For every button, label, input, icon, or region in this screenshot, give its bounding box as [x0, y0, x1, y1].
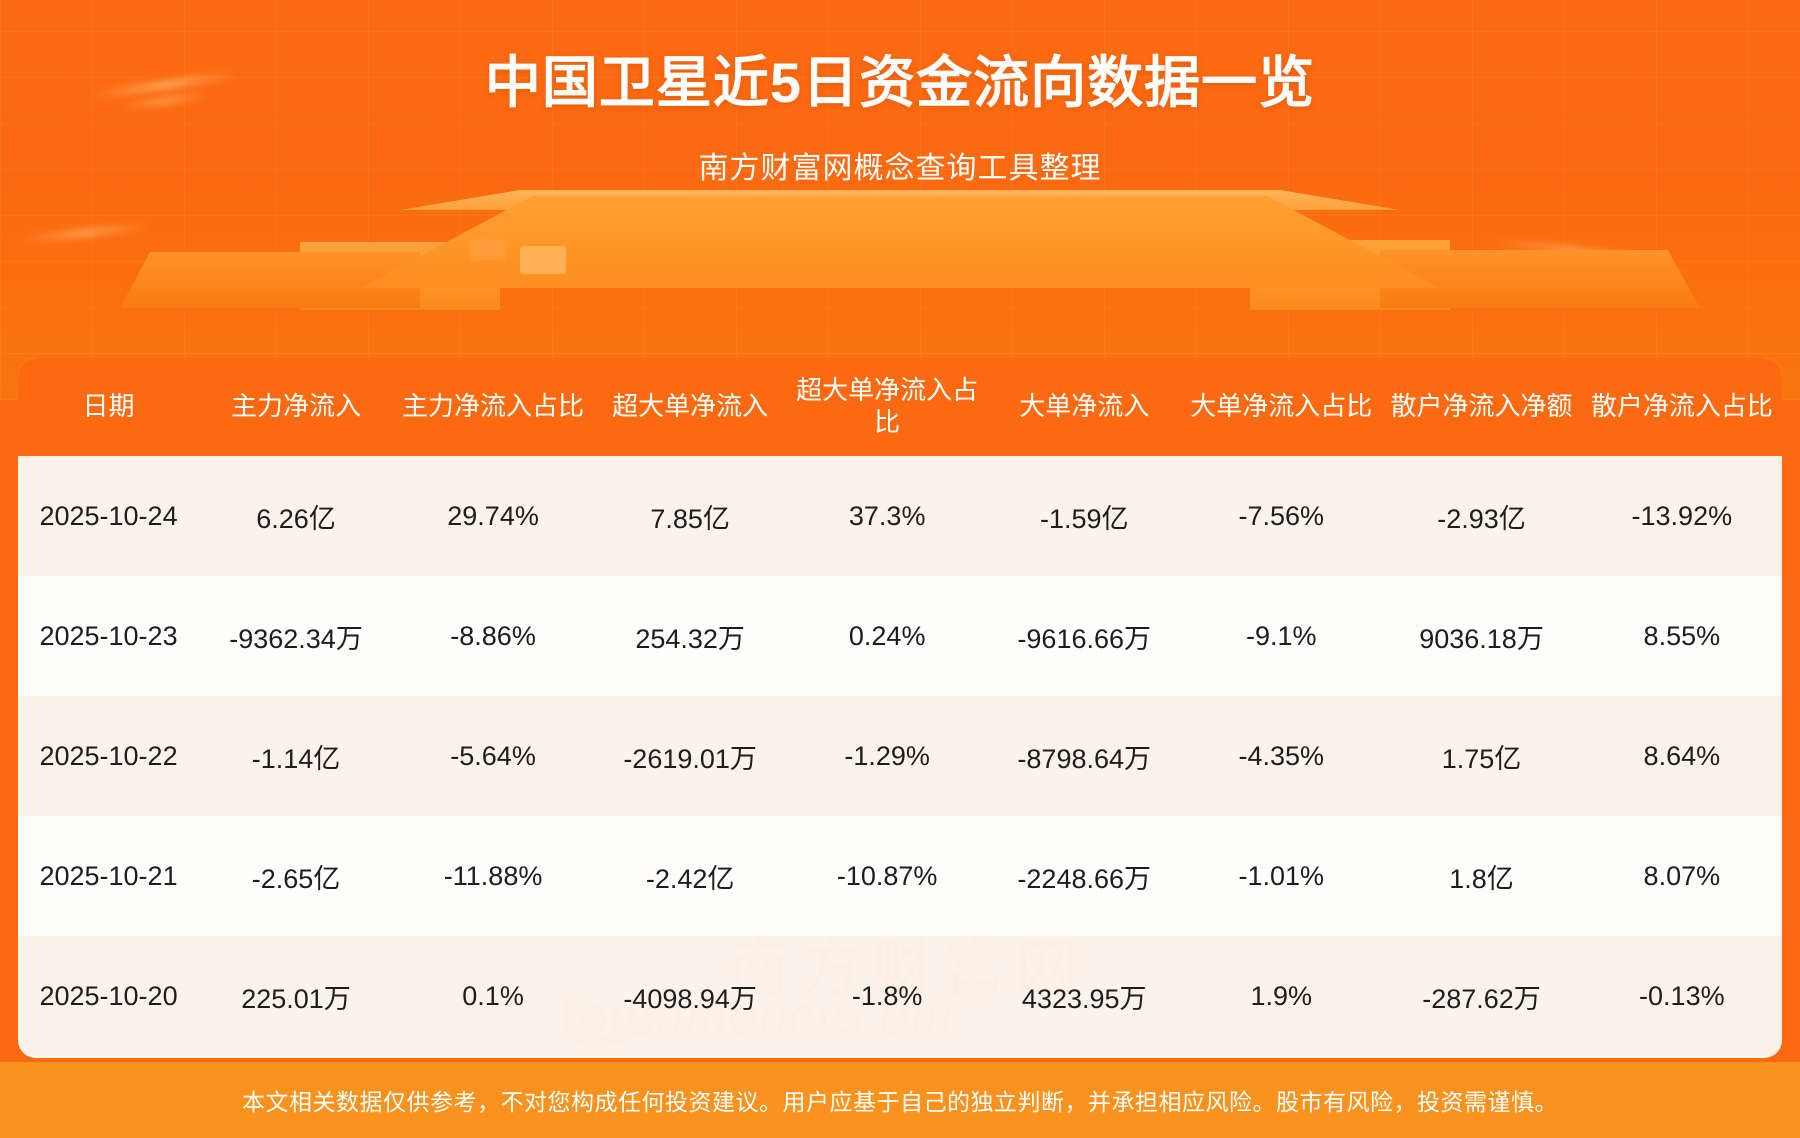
cell-value: -8.86% — [393, 576, 593, 696]
podium-block-decoration — [520, 246, 566, 274]
cell-value: -2.65亿 — [199, 816, 393, 936]
cell-value: -7.56% — [1181, 456, 1381, 576]
podium-center-decoration — [360, 196, 1440, 288]
cell-value: 0.24% — [787, 576, 987, 696]
cell-date: 2025-10-22 — [18, 696, 199, 816]
table-row: 2025-10-22 -1.14亿 -5.64% -2619.01万 -1.29… — [18, 696, 1782, 816]
cell-date: 2025-10-20 — [18, 936, 199, 1056]
cell-value: 225.01万 — [199, 936, 393, 1056]
table-row: 2025-10-24 6.26亿 29.74% 7.85亿 37.3% -1.5… — [18, 456, 1782, 576]
cell-value: -10.87% — [787, 816, 987, 936]
cell-value: -2.42亿 — [593, 816, 787, 936]
cell-value: -9616.66万 — [987, 576, 1181, 696]
cell-date: 2025-10-23 — [18, 576, 199, 696]
cell-date: 2025-10-24 — [18, 456, 199, 576]
cell-value: 8.07% — [1582, 816, 1782, 936]
cell-value: -1.14亿 — [199, 696, 393, 816]
podium-block-decoration — [469, 237, 506, 261]
cell-value: 0.1% — [393, 936, 593, 1056]
cell-value: -1.8% — [787, 936, 987, 1056]
cell-value: 1.75亿 — [1381, 696, 1581, 816]
disclaimer-text: 本文相关数据仅供参考，不对您构成任何投资建议。用户应基于自己的独立判断，并承担相… — [242, 1083, 1558, 1117]
cell-value: -0.13% — [1582, 936, 1782, 1056]
cell-value: 37.3% — [787, 456, 987, 576]
cell-value: 4323.95万 — [987, 936, 1181, 1056]
table-row: 2025-10-23 -9362.34万 -8.86% 254.32万 0.24… — [18, 576, 1782, 696]
column-header-super-large-net-inflow-ratio: 超大单净流入占比 — [787, 358, 987, 456]
cell-value: 7.85亿 — [593, 456, 787, 576]
cell-value: 254.32万 — [593, 576, 787, 696]
cell-value: -2619.01万 — [593, 696, 787, 816]
table-header: 日期 主力净流入 主力净流入占比 超大单净流入 超大单净流入占比 大单净流入 大… — [18, 358, 1782, 456]
cell-value: -4.35% — [1181, 696, 1381, 816]
cell-value: -1.01% — [1181, 816, 1381, 936]
table-row: 2025-10-21 -2.65亿 -11.88% -2.42亿 -10.87%… — [18, 816, 1782, 936]
column-header-super-large-net-inflow: 超大单净流入 — [593, 358, 787, 456]
column-header-large-net-inflow-ratio: 大单净流入占比 — [1181, 358, 1381, 456]
data-table-card: 南方财富网 outhmoney.com 日期 主力净流入 主力净流入占比 超大单… — [18, 358, 1782, 1058]
cell-value: -11.88% — [393, 816, 593, 936]
cell-value: 1.9% — [1181, 936, 1381, 1056]
cell-value: 9036.18万 — [1381, 576, 1581, 696]
cell-value: -9362.34万 — [199, 576, 393, 696]
cell-value: -9.1% — [1181, 576, 1381, 696]
podium-block-decoration — [120, 252, 420, 308]
cell-date: 2025-10-21 — [18, 816, 199, 936]
column-header-main-net-inflow-ratio: 主力净流入占比 — [393, 358, 593, 456]
podium-block-decoration — [1380, 250, 1700, 308]
page-title: 中国卫星近5日资金流向数据一览 — [0, 38, 1800, 119]
cell-value: 1.8亿 — [1381, 816, 1581, 936]
cell-value: -2248.66万 — [987, 816, 1181, 936]
fund-flow-table: 日期 主力净流入 主力净流入占比 超大单净流入 超大单净流入占比 大单净流入 大… — [18, 358, 1782, 1056]
cell-value: -8798.64万 — [987, 696, 1181, 816]
footer-bar: 本文相关数据仅供参考，不对您构成任何投资建议。用户应基于自己的独立判断，并承担相… — [0, 1062, 1800, 1138]
table-row: 2025-10-20 225.01万 0.1% -4098.94万 -1.8% … — [18, 936, 1782, 1056]
cell-value: 6.26亿 — [199, 456, 393, 576]
column-header-date: 日期 — [18, 358, 199, 456]
cell-value: -1.29% — [787, 696, 987, 816]
cell-value: -287.62万 — [1381, 936, 1581, 1056]
cell-value: 8.64% — [1582, 696, 1782, 816]
table-body: 2025-10-24 6.26亿 29.74% 7.85亿 37.3% -1.5… — [18, 456, 1782, 1056]
column-header-retail-net-inflow: 散户净流入净额 — [1381, 358, 1581, 456]
cell-value: -4098.94万 — [593, 936, 787, 1056]
column-header-large-net-inflow: 大单净流入 — [987, 358, 1181, 456]
column-header-main-net-inflow: 主力净流入 — [199, 358, 393, 456]
cell-value: -5.64% — [393, 696, 593, 816]
table-header-row: 日期 主力净流入 主力净流入占比 超大单净流入 超大单净流入占比 大单净流入 大… — [18, 358, 1782, 456]
column-header-retail-net-inflow-ratio: 散户净流入占比 — [1582, 358, 1782, 456]
cell-value: -1.59亿 — [987, 456, 1181, 576]
page-subtitle: 南方财富网概念查询工具整理 — [0, 143, 1800, 187]
cell-value: 8.55% — [1582, 576, 1782, 696]
cell-value: 29.74% — [393, 456, 593, 576]
cell-value: -13.92% — [1582, 456, 1782, 576]
cell-value: -2.93亿 — [1381, 456, 1581, 576]
